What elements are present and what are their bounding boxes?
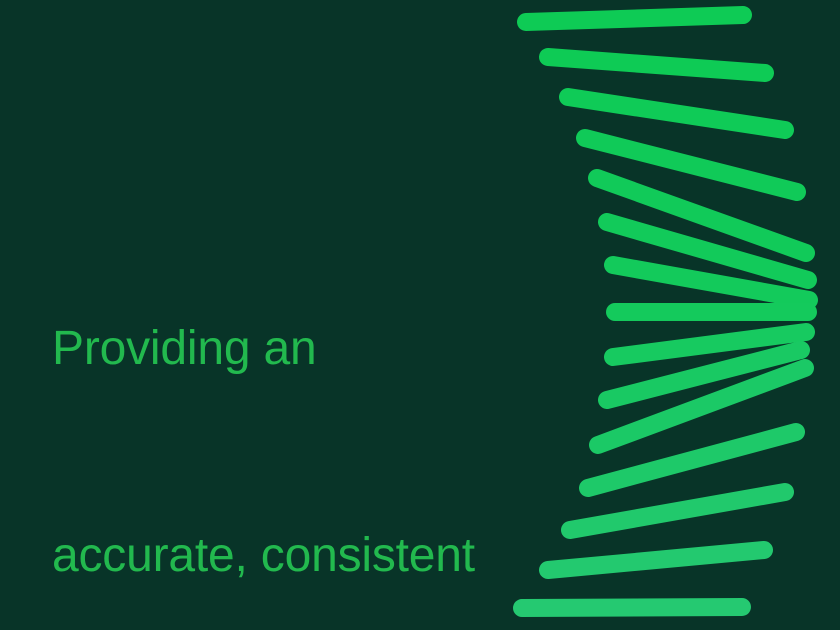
stripe xyxy=(597,178,806,253)
stripe-group xyxy=(522,15,809,608)
stripe xyxy=(568,97,785,130)
stripe xyxy=(588,432,796,488)
stripe xyxy=(607,222,808,280)
stripe xyxy=(570,492,785,530)
headline-block: Providing an accurate, consistent measur… xyxy=(52,176,552,630)
stripe xyxy=(522,607,742,608)
stripe xyxy=(607,350,801,400)
stripe xyxy=(598,368,805,445)
stripe xyxy=(613,265,809,300)
stripe xyxy=(548,57,765,73)
stripe xyxy=(526,15,743,22)
headline-line-2: accurate, consistent xyxy=(52,521,552,590)
stripe xyxy=(613,332,806,357)
headline-line-1: Providing an xyxy=(52,314,552,383)
hero-headline: Providing an accurate, consistent measur… xyxy=(52,176,552,630)
hero-card: Providing an accurate, consistent measur… xyxy=(0,0,840,630)
stripe xyxy=(548,550,764,570)
stripe xyxy=(585,138,797,192)
